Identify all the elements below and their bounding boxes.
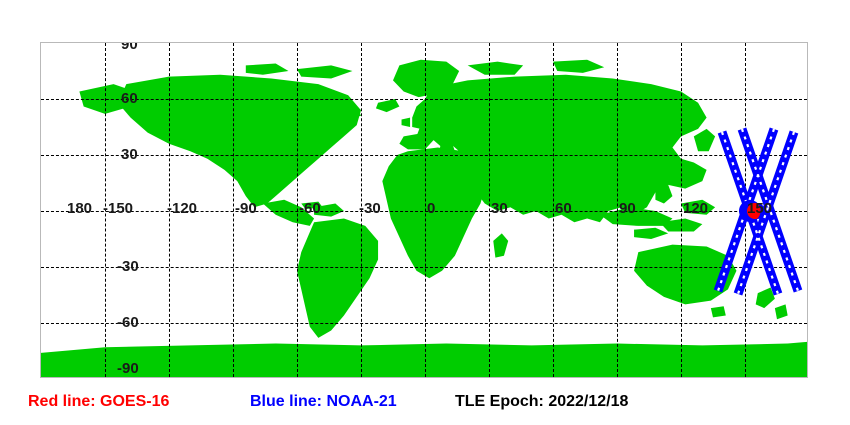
lon-label-150: 150 — [747, 201, 772, 216]
legend-tle-epoch: TLE Epoch: 2022/12/18 — [455, 393, 628, 411]
lon-label-180: 180 — [67, 201, 92, 216]
gridline-lon-30 — [489, 43, 490, 377]
legend-footer: Red line: GOES-16 Blue line: NOAA-21 TLE… — [0, 393, 850, 425]
lon-label--30: -30 — [359, 201, 381, 216]
world-map[interactable]: -30 0 30 60 90 120 150 180 -150 -120 -90… — [40, 42, 808, 378]
gridline-lat--30 — [41, 267, 807, 268]
lon-label-90: 90 — [619, 201, 636, 216]
lon-label--90: -90 — [235, 201, 257, 216]
lat-label--60: -60 — [117, 315, 139, 330]
gridline-lon-120 — [681, 43, 682, 377]
legend-red-line: Red line: GOES-16 — [28, 393, 169, 411]
gridline-lat--60 — [41, 323, 807, 324]
gridline-lon-0 — [425, 43, 426, 377]
lat-label--90: -90 — [117, 361, 139, 376]
gridline-lat-30 — [41, 155, 807, 156]
lat-label--30: -30 — [117, 259, 139, 274]
gridline-lon-150 — [745, 43, 746, 377]
legend-blue-line: Blue line: NOAA-21 — [250, 393, 397, 411]
gridline-lon--90 — [233, 43, 234, 377]
lat-label-60: 60 — [121, 91, 138, 106]
lon-label-0: 0 — [427, 201, 435, 216]
gridline-lon-90 — [617, 43, 618, 377]
gridline-lon-60 — [553, 43, 554, 377]
lon-label--120: -120 — [167, 201, 197, 216]
lon-label--60: -60 — [299, 201, 321, 216]
gridline-lat-60 — [41, 99, 807, 100]
lon-label-60: 60 — [555, 201, 572, 216]
lon-label-120: 120 — [683, 201, 708, 216]
satellite-ground-track-page: -30 0 30 60 90 120 150 180 -150 -120 -90… — [0, 0, 850, 425]
gridline-lon--60 — [297, 43, 298, 377]
lon-label--150: -150 — [103, 201, 133, 216]
lat-label-90: 90 — [121, 42, 138, 52]
lon-label-30: 30 — [491, 201, 508, 216]
lat-label-30: 30 — [121, 147, 138, 162]
